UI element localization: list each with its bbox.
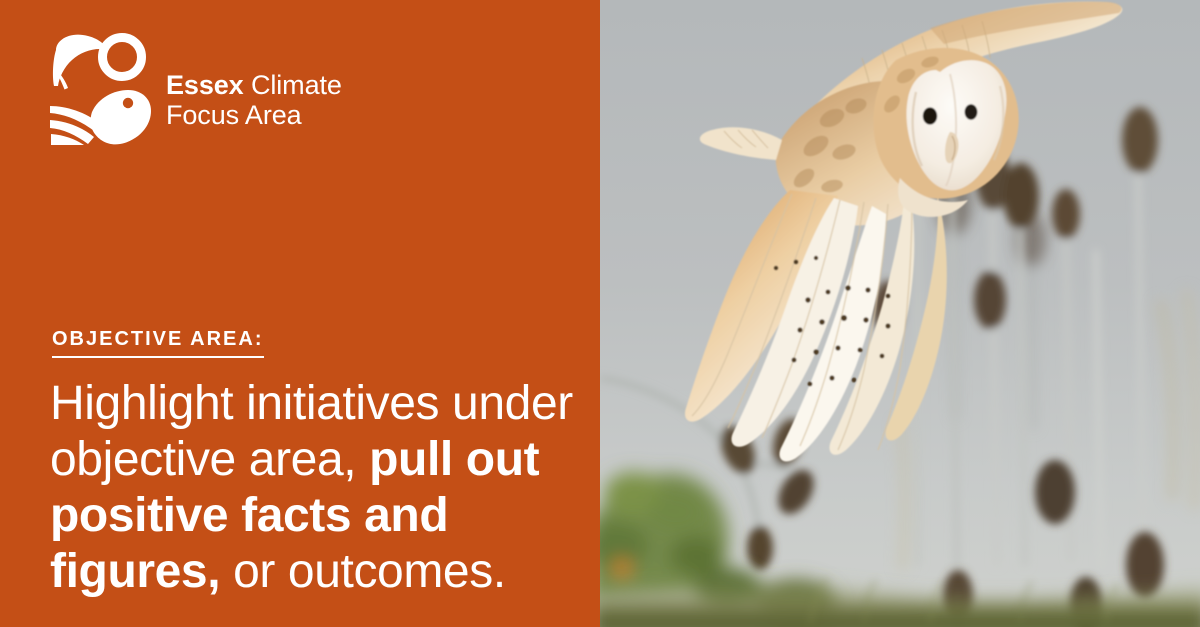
brand-name-strong: Essex <box>166 70 244 100</box>
objective-area-eyebrow: OBJECTIVE AREA: <box>52 328 264 358</box>
brand-wordmark: Essex Climate Focus Area <box>166 44 342 130</box>
essex-climate-focus-area-logo-icon <box>48 28 152 146</box>
brand-wordmark-line2: Focus Area <box>166 100 342 130</box>
brand-wordmark-line1: Essex Climate <box>166 70 342 100</box>
barn-owl-photograph <box>600 0 1200 627</box>
owl-photo-panel: Barn owl in flight over teasel seed head… <box>600 0 1200 627</box>
campaign-banner: Essex Climate Focus Area OBJECTIVE AREA:… <box>0 0 1200 627</box>
brand-name-rest: Climate <box>251 70 342 100</box>
headline-text: Highlight initiatives under objective ar… <box>50 376 584 601</box>
headline-part-2: or outcomes. <box>220 545 506 598</box>
brand-logo[interactable]: Essex Climate Focus Area <box>48 28 342 146</box>
orange-content-panel: Essex Climate Focus Area OBJECTIVE AREA:… <box>0 0 600 627</box>
